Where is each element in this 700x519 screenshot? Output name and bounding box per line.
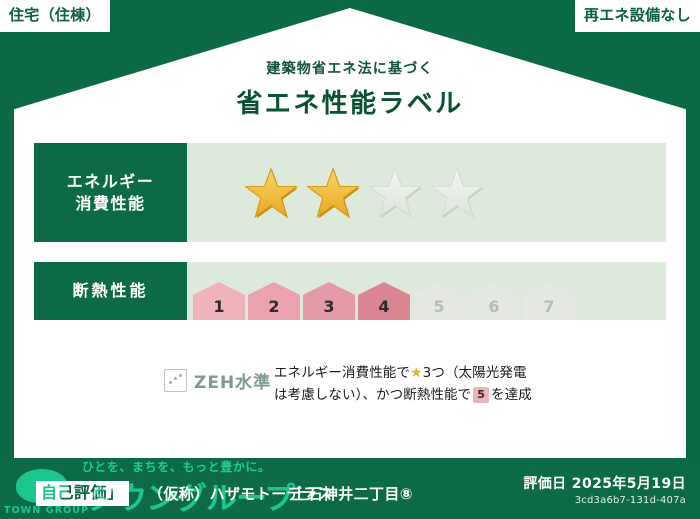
insulation-grade-5: 5: [413, 282, 465, 320]
insulation-performance-label: 断熱性能: [34, 262, 187, 320]
zeh-label: ZEH水準: [194, 368, 271, 393]
footer-eval-label: 自己評価」: [36, 481, 129, 506]
energy-label-line2: 消費性能: [75, 193, 145, 214]
footer-document-id: 3cd3a6b7-131d-407a: [523, 495, 686, 506]
zeh-dots-icon: [164, 369, 187, 392]
note-area: ZEH水準 エネルギー消費性能で★3つ（太陽光発電 は考慮しない）、かつ断熱性能…: [34, 362, 666, 407]
star-empty-icon: [368, 167, 422, 219]
insulation-grade-3: 3: [303, 282, 355, 320]
footer-eval-date-value: 2025年5月19日: [572, 476, 686, 492]
star-empty-icon: [430, 167, 484, 219]
performance-note: エネルギー消費性能で★3つ（太陽光発電 は考慮しない）、かつ断熱性能で5を達成: [274, 362, 666, 407]
footer-eval-date: 評価日 2025年5月19日: [523, 473, 686, 493]
energy-label-line1: エネルギー: [67, 171, 155, 192]
star-filled-icon: [244, 167, 298, 219]
insulation-grade-6: 6: [468, 282, 520, 320]
note-line2-a: は考慮しない）、かつ断熱性能で: [274, 387, 471, 403]
badge-building-type: 住宅（住棟）: [0, 0, 113, 32]
star-rating: [187, 167, 484, 219]
zeh-standard-mark: ZEH水準: [34, 362, 274, 393]
insulation-performance-row: 断熱性能 1234567: [34, 262, 666, 320]
footer-address: 上石神井二丁目⑧: [292, 483, 413, 504]
footer-left: 自己評価」 （仮称）ハザモトーデラス: [0, 459, 300, 519]
energy-performance-body: [187, 143, 666, 242]
star-filled-icon: [306, 167, 360, 219]
note-line1-a: エネルギー消費性能で: [274, 365, 410, 381]
title-subtitle: 建築物省エネ法に基づく: [0, 58, 700, 78]
energy-performance-label: 住宅（住棟） 再エネ設備なし 建築物省エネ法に基づく 省エネ性能ラベル エネルギ…: [0, 0, 700, 519]
note-grade-chip: 5: [473, 387, 489, 403]
footer-eval-date-label: 評価日: [523, 476, 566, 492]
badge-renewable-energy: 再エネ設備なし: [572, 0, 700, 32]
energy-performance-label: エネルギー 消費性能: [34, 143, 187, 242]
footer-right: 評価日 2025年5月19日 3cd3a6b7-131d-407a: [523, 473, 686, 506]
page-title: 省エネ性能ラベル: [0, 83, 700, 120]
insulation-grade-scale: 1234567: [187, 262, 575, 320]
note-star-icon: ★: [410, 365, 423, 381]
title-block: 建築物省エネ法に基づく 省エネ性能ラベル: [0, 58, 700, 120]
insulation-grade-4: 4: [358, 282, 410, 320]
insulation-grade-1: 1: [193, 282, 245, 320]
insulation-performance-body: 1234567: [187, 262, 666, 320]
note-line1-b: 3つ（太陽光発電: [423, 365, 527, 381]
insulation-grade-2: 2: [248, 282, 300, 320]
note-line2-b: を達成: [491, 387, 532, 403]
energy-performance-row: エネルギー 消費性能: [34, 143, 666, 242]
footer: 自己評価」 （仮称）ハザモトーデラス 上石神井二丁目⑧ 評価日 2025年5月1…: [0, 459, 700, 519]
insulation-grade-7: 7: [523, 282, 575, 320]
